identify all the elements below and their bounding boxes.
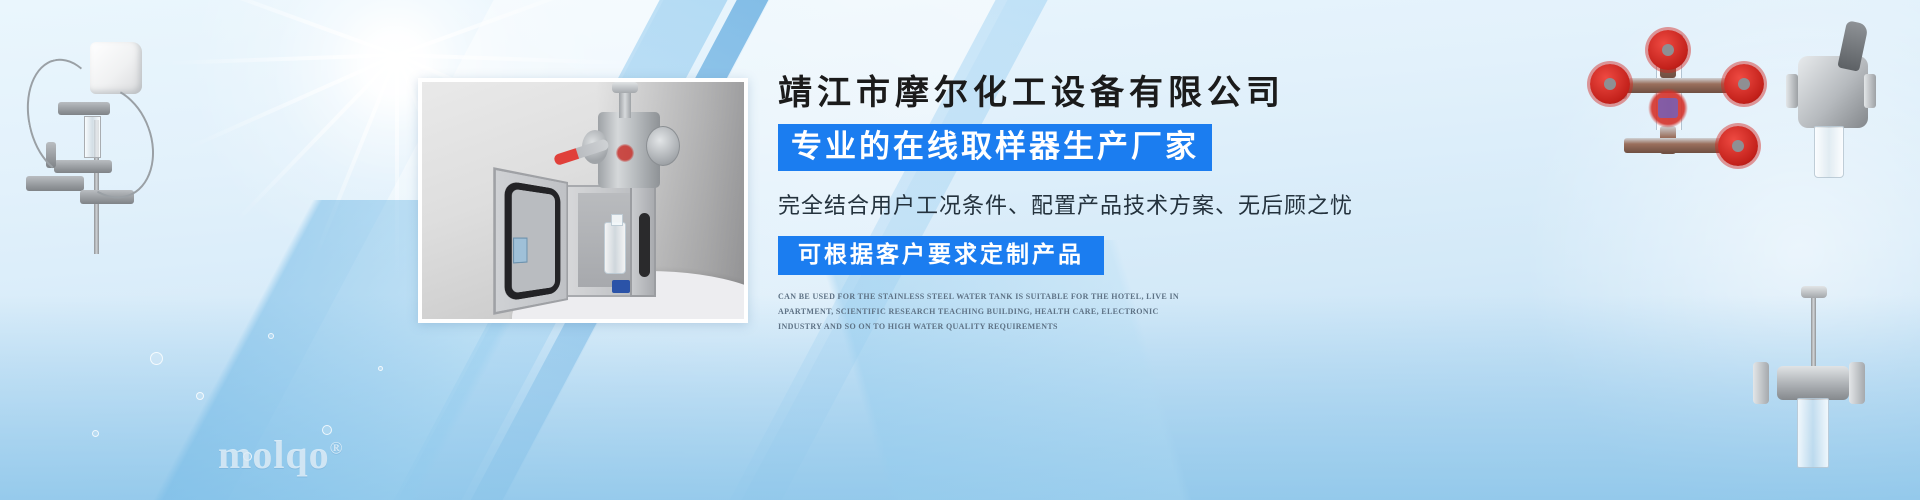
sun-ray-icon [395,55,399,285]
headline-highlight: 专业的在线取样器生产厂家 [778,124,1212,171]
top-right-product-image [1590,34,1765,154]
right-glow-decoration [1500,0,1920,500]
sub-headline: 完全结合用户工况条件、配置产品技术方案、无后顾之忧 [778,188,1408,220]
watermark-text: molqo [218,432,330,477]
bubble-decoration [150,352,163,365]
headline-wrapper: 专业的在线取样器生产厂家 [778,124,1408,171]
watermark-logo: molqo® [218,431,343,478]
bubble-decoration [378,366,383,371]
custom-product-badge: 可根据客户要求定制产品 [778,236,1104,275]
sun-ray-icon [236,54,399,222]
company-name: 靖江市摩尔化工设备有限公司 [778,74,1408,114]
sun-ray-icon [186,53,398,150]
main-product-photo [418,78,748,323]
english-description: CAN BE USED FOR THE STAINLESS STEEL WATE… [778,290,1182,334]
left-product-image [10,24,160,254]
bubble-decoration [92,430,99,437]
sun-ray-icon [397,53,627,65]
registered-mark-icon: ® [330,439,344,458]
bottom-right-product-image [1739,292,1894,482]
sun-ray-icon [167,53,397,65]
top-right-product-image-2 [1780,22,1900,192]
banner-text-block: 靖江市摩尔化工设备有限公司 专业的在线取样器生产厂家 完全结合用户工况条件、配置… [778,74,1408,335]
promo-banner: 靖江市摩尔化工设备有限公司 专业的在线取样器生产厂家 完全结合用户工况条件、配置… [0,0,1920,500]
sun-ray-icon [309,54,399,269]
sun-ray-icon [180,0,397,57]
sun-ray-icon [396,0,613,57]
bubble-decoration [268,333,274,339]
badge-wrapper: 可根据客户要求定制产品 [778,236,1408,275]
bubble-decoration [196,392,204,400]
